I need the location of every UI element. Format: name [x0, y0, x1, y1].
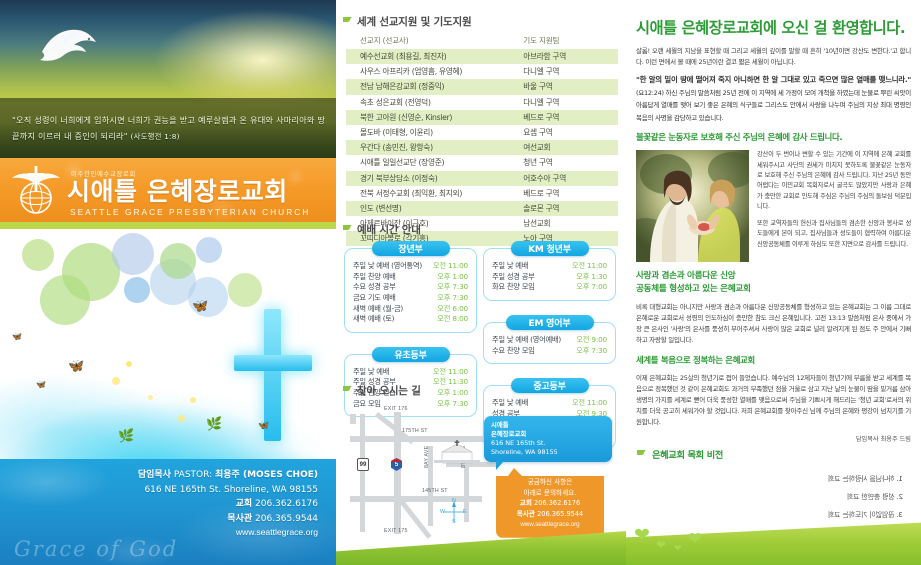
- compass-e: E: [463, 509, 466, 515]
- table-header-row: 선교지 (선교사) 기도 지원팀: [346, 33, 618, 49]
- butterfly-icon: 🦋: [68, 359, 84, 372]
- mission-field: 속초 성은교회 (전영덕): [346, 95, 509, 110]
- vision-item: 3. 끊임없이 기도하는 교회: [828, 509, 903, 522]
- leaf-flag-icon: [342, 385, 353, 396]
- photo-side-text: 강산이 두 번이나 변할 수 있는 기간에 이 지역에 은혜 교회를 세워주시고…: [757, 150, 911, 262]
- butterfly-icon: 🦋: [192, 299, 208, 312]
- table-row: 몰도바 (이태형, 이윤리)요셉 구역: [346, 125, 618, 140]
- sprout-icon: 🌿: [118, 429, 134, 442]
- inquiry-box: 궁금하신 사항은 아래로 문의하세요. 교회 206.362.6176 목사관 …: [496, 468, 604, 538]
- mission-field: 전북 서정수교회 (최익환, 최지외): [346, 186, 509, 201]
- callout-address2: Shoreline, WA 98155: [491, 448, 605, 457]
- table-row: 전남 남해은강교회 (정중익)바울 구역: [346, 79, 618, 94]
- parsonage-phone-label: 목사관: [227, 514, 252, 524]
- logo-name-english: SEATTLE GRACE PRESBYTERIAN CHURCH: [70, 207, 310, 217]
- bible-verse-banner: "오직 성령이 너희에게 임하시면 너희가 권능을 받고 예루살렘과 온 유대와…: [0, 98, 336, 158]
- butterfly-icon: 🦋: [258, 421, 269, 430]
- mission-field: 경기 북부상담소 (이정숙): [346, 171, 509, 186]
- group-name-badge: 장년부: [372, 241, 450, 256]
- mission-table: 선교지 (선교사) 기도 지원팀 예수선교회 (최용길, 최진자)아브라함 구역…: [346, 33, 618, 246]
- prayer-team: 베드로 구역: [509, 110, 618, 125]
- prayer-team: 다니엘 구역: [509, 95, 618, 110]
- worship-card-em-english: EM 영어부 주일 낮 예배 (영어예배)오전 9:00 수요 찬양 모임오후 …: [483, 315, 616, 364]
- inquiry-church-phone: 교회 206.362.6176: [504, 498, 596, 509]
- table-row: 경기 북부상담소 (이정숙)어호수아 구역: [346, 171, 618, 186]
- callout-address1: 616 NE 165th St.: [491, 439, 605, 448]
- parsonage-phone-value: 206.365.9544: [255, 514, 318, 524]
- service-label: 주일 성경 공부: [492, 272, 535, 283]
- table-row: 북한 고아원 (신영순, Kinsler)베드로 구역: [346, 110, 618, 125]
- world-mission-paragraph: 이제 은혜교회는 25살의 청년기로 접어 들었습니다. 예수님의 12제자들이…: [636, 373, 911, 429]
- church-phone-value: 206.362.6176: [255, 499, 318, 509]
- vision-item: 2. 성령 충만한 교회: [847, 491, 903, 504]
- verse-reference: (사도행전 1:8): [131, 132, 180, 141]
- vision-section-title: 은혜교회 목회 비전: [652, 447, 723, 461]
- service-label: 주일 낮 예배: [353, 367, 389, 378]
- service-label: 주일 낮 예배 (영어예배): [492, 335, 561, 346]
- cross-icon: [234, 309, 312, 441]
- mission-field: 북한 고아원 (신영순, Kinsler): [346, 110, 509, 125]
- welcome-title: 시애틀 은혜장로교회에 오신 걸 환영합니다.: [636, 16, 911, 38]
- route-99-shield-icon: 99: [357, 458, 369, 471]
- globe-cross-dove-emblem-icon: [8, 162, 64, 218]
- group-name-badge: EM 영어부: [506, 315, 594, 330]
- heart-leaf-icon: ❤: [656, 539, 666, 551]
- heart-leaf-icon: ❤: [688, 530, 702, 547]
- photo-text-row: 강산이 두 번이나 변할 수 있는 기간에 이 지역에 은혜 교회를 세워주시고…: [636, 150, 911, 262]
- map-label-exit176: EXIT 176: [384, 406, 408, 412]
- heart-leaf-icon: ❤: [674, 544, 682, 553]
- group-name-badge: 유초등부: [372, 347, 450, 362]
- service-time: 오후 7:00: [576, 282, 607, 293]
- service-label: 수요 찬양 모임: [492, 346, 535, 357]
- service-time: 오전 6:00: [437, 304, 468, 315]
- callout-church-name: 시애틀 은혜장로교회: [491, 421, 605, 439]
- leaf-flag-icon: [342, 16, 353, 27]
- worship-card-km-youth: KM 청년부 주일 낮 예배오전 11:00 주일 성경 공부오후 1:30 화…: [483, 241, 616, 301]
- mission-field: 인도 (변선명): [346, 201, 509, 216]
- directions-section: 찾아 오시는 길 EXIT 176 175TH ST 148TH ST 145T…: [336, 383, 626, 542]
- church-phone-line: 교회 206.362.6176: [0, 497, 318, 512]
- heart-leaf-icon: ❤: [634, 526, 650, 545]
- church-building-icon: [434, 440, 480, 466]
- inquiry-line2: 아래로 문의하세요.: [504, 488, 596, 499]
- worship-section-header: 예배 시간 안내: [342, 222, 626, 237]
- map-label-175th: 175TH ST: [402, 428, 428, 434]
- col-header-team: 기도 지원팀: [509, 33, 618, 49]
- community-paragraph: 비록 대형교회는 아니지만 사랑과 겸손과 아름다운 신앙공동체를 형성하고 있…: [636, 302, 911, 347]
- prayer-team: 아브라함 구역: [509, 49, 618, 64]
- service-time: 오후 7:30: [576, 346, 607, 357]
- inquiry-church-label: 교회: [520, 499, 532, 507]
- map-label-145th: 145TH ST: [422, 488, 448, 494]
- group-name-badge: KM 청년부: [511, 241, 589, 256]
- prayer-team: 다니엘 구역: [509, 64, 618, 79]
- mission-field: 전남 남해은강교회 (정중익): [346, 79, 509, 94]
- service-time: 오전 8:00: [437, 314, 468, 325]
- table-row: 예수선교회 (최용길, 최진자)아브라함 구역: [346, 49, 618, 64]
- service-label: 새벽 예배 (토): [353, 314, 394, 325]
- service-time: 오전 11:00: [433, 367, 468, 378]
- service-label: 수요 성경 공부: [353, 282, 396, 293]
- table-row: 사우스 아프리카 (엄영흠, 유영혜)다니엘 구역: [346, 64, 618, 79]
- church-logo-banner: 미주한인예수교장로회 시애틀 은혜장로교회 SEATTLE GRACE PRES…: [0, 158, 336, 222]
- scripture-quote: "한 알의 밀이 땅에 떨어져 죽지 아니하면 한 알 그대로 있고 죽으면 많…: [636, 75, 911, 84]
- service-time: 오후 7:30: [437, 282, 468, 293]
- group-name-badge: 중고등부: [511, 378, 589, 393]
- compass-w: W: [440, 509, 445, 515]
- church-map-callout: 시애틀 은혜장로교회 616 NE 165th St. Shoreline, W…: [484, 416, 612, 462]
- prayer-team: 어호수아 구역: [509, 171, 618, 186]
- accent-world-mission-title: 세계를 복음으로 정복하는 은혜교회: [636, 354, 911, 366]
- pastor-label-kr: 담임목사: [138, 470, 171, 480]
- pastor-name: 최용주 (MOSES CHOE): [215, 470, 318, 480]
- table-row: 전북 서정수교회 (최익환, 최지외)베드로 구역: [346, 186, 618, 201]
- prayer-team: 요셉 구역: [509, 125, 618, 140]
- accent-community-title: 사랑과 겸손과 아름다운 신앙 공동체를 형성하고 있는 은혜교회: [636, 270, 911, 296]
- accent-thanks: 불꽃같은 눈동자로 보호해 주신 주님의 은혜에 감사 드립니다.: [636, 131, 911, 143]
- mission-section-title: 세계 선교지원 및 기도지원: [357, 14, 471, 29]
- service-label: 주일 낮 예배: [492, 261, 528, 272]
- butterfly-icon: 🦋: [36, 381, 46, 389]
- service-time: 오전 11:00: [572, 261, 607, 272]
- side-paragraph-2: 또한 교역자들의 헌신과 집사님들의 겸손한 신앙과 봉사로 성도들에게 본이 …: [757, 219, 911, 250]
- mission-field: 예수선교회 (최용길, 최진자): [346, 49, 509, 64]
- location-map[interactable]: EXIT 176 175TH ST 148TH ST 145TH ST EXIT…: [336, 402, 626, 542]
- contact-info-block: 담임목사 PASTOR: 최용주 (MOSES CHOE) 616 NE 165…: [0, 459, 336, 565]
- script-watermark: Grace of God: [14, 537, 178, 561]
- church-address: 616 NE 165th St. Shoreline, WA 98155: [0, 483, 318, 498]
- mission-field: 사우스 아프리카 (엄영흠, 유영혜): [346, 64, 509, 79]
- parsonage-phone-line: 목사관 206.365.9544: [0, 512, 318, 527]
- church-phone-label: 교회: [236, 499, 253, 509]
- prayer-team: 여선교회: [509, 140, 618, 155]
- leaf-flag-icon: [636, 449, 647, 460]
- map-label-bay-ave: 8AY AVE: [424, 446, 430, 468]
- butterfly-icon: 🦋: [12, 333, 22, 341]
- vision-item: 1. 하나님을 사랑하는 교회: [828, 473, 903, 486]
- pastor-signature: 담임목사 최용주 드림: [636, 434, 911, 443]
- prayer-team: 베드로 구역: [509, 186, 618, 201]
- inquiry-parsonage-number: 206.365.9544: [537, 510, 583, 518]
- compass-n: N: [452, 498, 456, 504]
- logo-name-korean: 시애틀 은혜장로교회: [67, 179, 310, 205]
- brochure-page: "오직 성령이 너희에게 임하시면 너희가 권능을 받고 예루살렘과 온 유대와…: [0, 0, 921, 565]
- service-time: 오후 1:30: [576, 272, 607, 283]
- table-row: 인도 (변선명)솔로몬 구역: [346, 201, 618, 216]
- service-label: 화요 찬양 모임: [492, 282, 535, 293]
- service-label: 주일 찬양 예배: [353, 272, 396, 283]
- scripture-quote-block: "한 알의 밀이 땅에 떨어져 죽지 아니하면 한 알 그대로 있고 죽으면 많…: [636, 74, 911, 124]
- prayer-team: 솔로몬 구역: [509, 201, 618, 216]
- leaf-flag-icon: [342, 224, 353, 235]
- table-row: 시애틀 일일선교단 (장영준)청년 구역: [346, 155, 618, 170]
- mission-field: 몰도바 (이태형, 이윤리): [346, 125, 509, 140]
- worship-section-title: 예배 시간 안내: [357, 222, 421, 237]
- inquiry-parsonage-phone: 목사관 206.365.9544: [504, 509, 596, 520]
- mission-section-header: 세계 선교지원 및 기도지원: [342, 14, 626, 29]
- table-row: 우간다 (송민진, 왕항숙)여선교회: [346, 140, 618, 155]
- dove-icon: [34, 22, 100, 70]
- pastor-line: 담임목사 PASTOR: 최용주 (MOSES CHOE): [0, 468, 318, 483]
- inquiry-church-number: 206.362.6176: [534, 499, 580, 507]
- vision-section-header: 은혜교회 목회 비전: [636, 447, 911, 461]
- service-time: 오전 11:00: [433, 261, 468, 272]
- mission-field: 우간다 (송민진, 왕항숙): [346, 140, 509, 155]
- compass-s: S: [452, 519, 455, 525]
- prayer-team: 바울 구역: [509, 79, 618, 94]
- service-label: 금요 기도 예배: [353, 293, 396, 304]
- worship-card-adult: 장년부 주일 낮 예배 (영어통역)오전 11:00 주일 찬양 예배오후 1:…: [344, 241, 477, 333]
- left-panel: "오직 성령이 너희에게 임하시면 너희가 권능을 받고 예루살렘과 온 유대와…: [0, 0, 336, 565]
- service-time: 오후 7:30: [437, 293, 468, 304]
- inquiry-url[interactable]: www.seattlegrace.org: [504, 520, 596, 530]
- green-divider: [0, 222, 336, 229]
- service-time: 오전 9:00: [576, 335, 607, 346]
- prayer-team: 청년 구역: [509, 155, 618, 170]
- inquiry-line1: 궁금하신 사항은: [504, 477, 596, 488]
- compass-rose-icon: N S E W: [442, 500, 466, 524]
- service-time: 오후 1:00: [437, 272, 468, 283]
- service-label: 주일 낮 예배 (영어통역): [353, 261, 422, 272]
- sprout-icon: 🌿: [206, 417, 222, 430]
- pastor-label-en: PASTOR:: [174, 470, 212, 480]
- right-panel: 시애틀 은혜장로교회에 오신 걸 환영합니다. 샬롬! 오랜 세월의 지남을 표…: [626, 0, 921, 565]
- mission-support-section: 세계 선교지원 및 기도지원 선교지 (선교사) 기도 지원팀 예수선교회 (최…: [336, 14, 626, 246]
- intro-paragraph: 샬롬! 오랜 세월의 지남을 표현할 때 그리고 세월의 깊이를 말할 때 흔히…: [636, 46, 911, 68]
- map-section-title: 찾아 오시는 길: [357, 383, 421, 398]
- jesus-with-child-photo: [636, 150, 749, 262]
- map-label-exit175: EXIT 175: [384, 528, 408, 534]
- col-header-field: 선교지 (선교사): [346, 33, 509, 49]
- center-panel: 세계 선교지원 및 기도지원 선교지 (선교사) 기도 지원팀 예수선교회 (최…: [336, 0, 626, 565]
- scripture-quote-continuation: (요12:24) 하신 주님의 말씀처럼 25년 전에 이 지역에 세 가정이 …: [636, 89, 911, 122]
- mission-field: 시애틀 일일선교단 (장영준): [346, 155, 509, 170]
- service-label: 새벽 예배 (월-금): [353, 304, 403, 315]
- table-row: 속초 성은교회 (전영덕)다니엘 구역: [346, 95, 618, 110]
- side-paragraph-1: 강산이 두 번이나 변할 수 있는 기간에 이 지역에 은혜 교회를 세워주시고…: [757, 150, 911, 213]
- inquiry-parsonage-label: 목사관: [517, 510, 535, 518]
